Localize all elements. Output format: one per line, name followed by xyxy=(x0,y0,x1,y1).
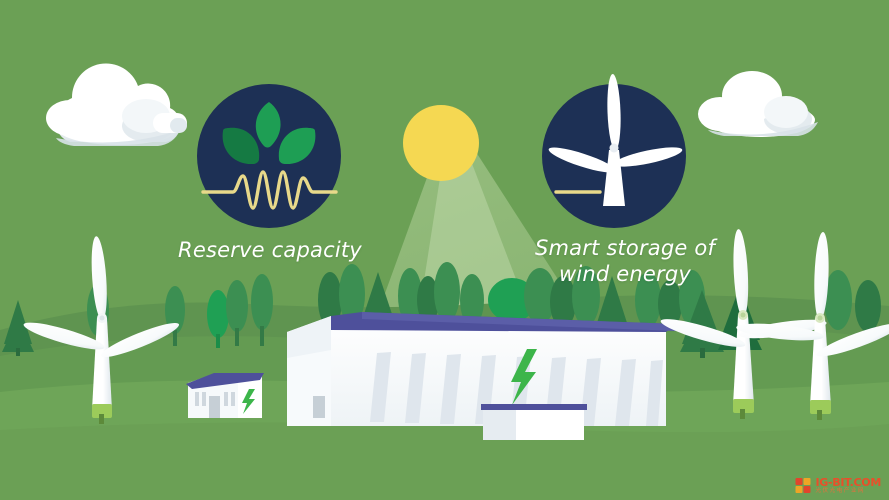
watermark-main-text: IG-BIT.COM xyxy=(815,477,881,488)
label-smart-line2: wind energy xyxy=(559,262,691,286)
badges-layer xyxy=(0,0,889,500)
watermark: IG-BIT.COM 光伏光电产业网 xyxy=(795,477,881,495)
badge-smart-storage[interactable] xyxy=(542,74,686,228)
label-reserve-capacity: Reserve capacity xyxy=(160,237,380,263)
label-smart-line1: Smart storage of xyxy=(535,236,715,260)
badge-reserve-capacity[interactable] xyxy=(197,84,341,228)
label-smart-storage: Smart storage ofwind energy xyxy=(500,235,750,287)
watermark-sub-text: 光伏光电产业网 xyxy=(815,489,881,495)
watermark-text: IG-BIT.COM 光伏光电产业网 xyxy=(815,477,881,495)
infographic-scene: Reserve capacity Smart storage ofwind en… xyxy=(0,0,889,500)
watermark-logo-icon xyxy=(795,477,812,494)
